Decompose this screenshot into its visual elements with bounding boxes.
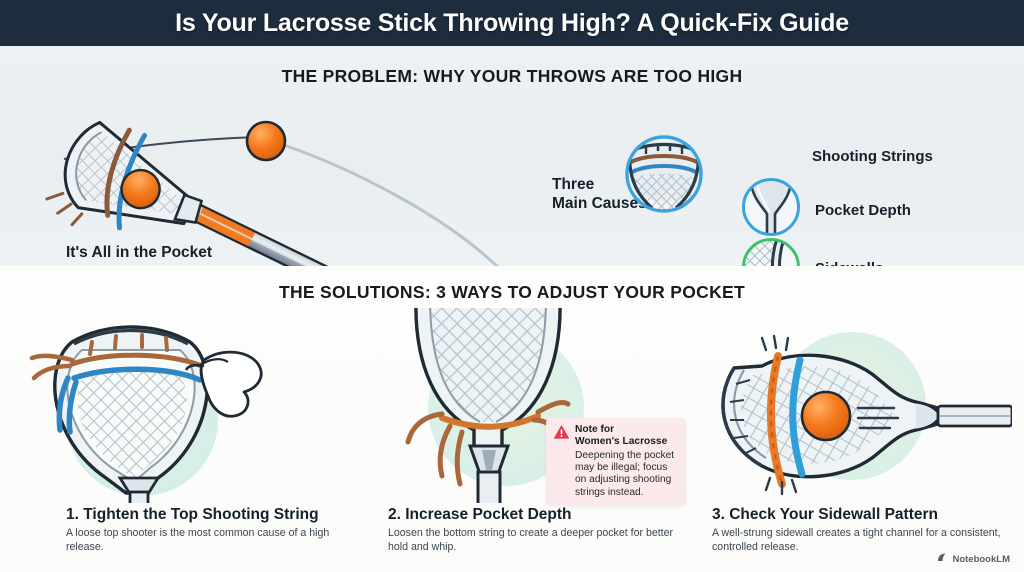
- problem-section-heading: THE PROBLEM: WHY YOUR THROWS ARE TOO HIG…: [0, 66, 1024, 87]
- solution-2-body: Loosen the bottom string to create a dee…: [388, 527, 688, 555]
- solution-3-caption: 3. Check Your Sidewall Pattern A well-st…: [712, 506, 1012, 555]
- page-title: Is Your Lacrosse Stick Throwing High? A …: [175, 9, 849, 38]
- solutions-section: THE SOLUTIONS: 3 WAYS TO ADJUST YOUR POC…: [0, 266, 1024, 572]
- title-bar: Is Your Lacrosse Stick Throwing High? A …: [0, 0, 1024, 46]
- solution-card-1: 1. Tighten the Top Shooting String A loo…: [16, 308, 336, 558]
- notebooklm-label: NotebookLM: [952, 554, 1010, 565]
- solution-card-3: 3. Check Your Sidewall Pattern A well-st…: [692, 308, 1012, 558]
- solution-1-title: 1. Tighten the Top Shooting String: [66, 506, 366, 524]
- notebooklm-icon: [937, 552, 948, 566]
- cause-item-pocket-depth[interactable]: Pocket Depth: [740, 176, 802, 243]
- warning-triangle-icon: [553, 424, 570, 499]
- cause-item-shooting-strings[interactable]: Shooting Strings: [622, 132, 706, 221]
- infographic-page: Is Your Lacrosse Stick Throwing High? A …: [0, 0, 1024, 572]
- problem-section: THE PROBLEM: WHY YOUR THROWS ARE TOO HIG…: [0, 46, 1024, 266]
- shooting-strings-icon: [622, 132, 706, 221]
- solutions-section-heading: THE SOLUTIONS: 3 WAYS TO ADJUST YOUR POC…: [0, 282, 1024, 303]
- womens-lacrosse-note-box: Note for Women's Lacrosse Deepening the …: [546, 418, 686, 506]
- solution-3-body: A well-strung sidewall creates a tight c…: [712, 527, 1012, 555]
- note-title-line-2: Women's Lacrosse: [575, 436, 679, 448]
- note-body: Deepening the pocket may be illegal; foc…: [575, 450, 679, 499]
- pocket-depth-icon: [740, 176, 802, 243]
- solution-2-caption: 2. Increase Pocket Depth Loosen the bott…: [388, 506, 688, 555]
- solution-1-caption: 1. Tighten the Top Shooting String A loo…: [66, 506, 366, 555]
- head-side-view-with-ball-in-channel-illustration: [692, 308, 1012, 503]
- solution-2-title: 2. Increase Pocket Depth: [388, 506, 688, 524]
- solution-1-body: A loose top shooter is the most common c…: [66, 527, 366, 555]
- solution-3-title: 3. Check Your Sidewall Pattern: [712, 506, 1012, 524]
- pocket-caption-title: It's All in the Pocket: [66, 244, 366, 262]
- cause-label-pocket-depth: Pocket Depth: [815, 202, 911, 219]
- note-title-line-1: Note for: [575, 424, 679, 436]
- notebooklm-watermark: NotebookLM: [937, 552, 1010, 566]
- head-front-with-hand-pulling-string-illustration: [16, 308, 336, 503]
- cause-label-shooting-strings: Shooting Strings: [812, 148, 933, 165]
